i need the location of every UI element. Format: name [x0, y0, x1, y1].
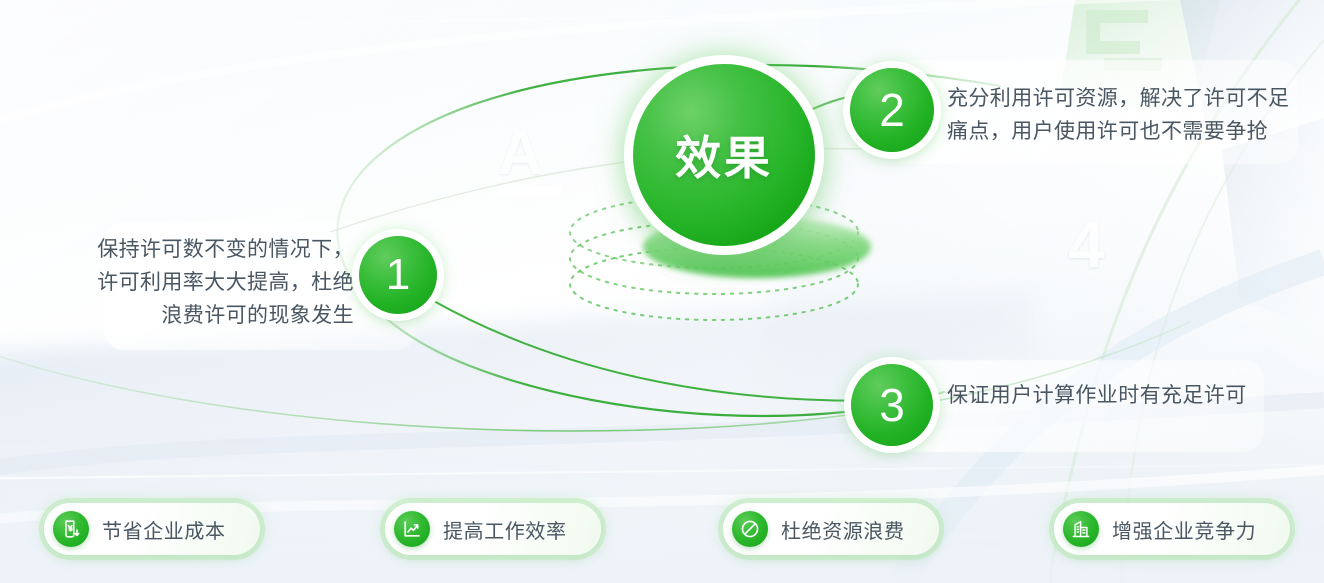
benefit-pill-save-cost[interactable]: 节省企业成本 [44, 503, 260, 555]
benefit-pill-competitiveness[interactable]: 增强企业竞争力 [1054, 503, 1290, 555]
benefit-pill-efficiency[interactable]: 提高工作效率 [385, 503, 601, 555]
benefits-bar: 节省企业成本 提高工作效率 杜绝资源浪费 [0, 473, 1324, 583]
benefit-label: 提高工作效率 [443, 515, 567, 544]
infographic-canvas: A 4 效果 1 2 3 保持许可数不变的情况下， 许可 [0, 0, 1324, 583]
node-marker-1[interactable]: 1 [359, 236, 437, 314]
benefit-pill-no-waste[interactable]: 杜绝资源浪费 [723, 503, 939, 555]
node-number-2: 2 [879, 83, 905, 137]
background-ghost-digit: 4 [1068, 206, 1105, 282]
benefit-label: 杜绝资源浪费 [781, 515, 905, 544]
node-description-3: 保证用户计算作业时有充足许可 [947, 379, 1297, 412]
background-ghost-bar [498, 186, 562, 195]
center-sphere-label: 效果 [675, 122, 773, 188]
node-number-3: 3 [879, 378, 905, 432]
background-hairline-top [0, 2, 1324, 30]
trending-up-icon [394, 511, 430, 547]
center-sphere[interactable]: 效果 [633, 64, 815, 246]
node-description-1: 保持许可数不变的情况下， 许可利用率大大提高，杜绝 浪费许可的现象发生 [86, 233, 354, 332]
benefit-label: 增强企业竞争力 [1112, 515, 1256, 544]
benefit-label: 节省企业成本 [102, 515, 226, 544]
background-ghost-letter: A [498, 118, 543, 189]
node-marker-2[interactable]: 2 [850, 68, 934, 152]
building-icon [1063, 511, 1099, 547]
prohibition-icon [732, 511, 768, 547]
node-number-1: 1 [386, 250, 410, 300]
node-description-2: 充分利用许可资源，解决了许可不足 痛点，用户使用许可也不需要争抢 [947, 82, 1299, 148]
node-marker-3[interactable]: 3 [851, 364, 933, 446]
cost-down-icon [53, 511, 89, 547]
